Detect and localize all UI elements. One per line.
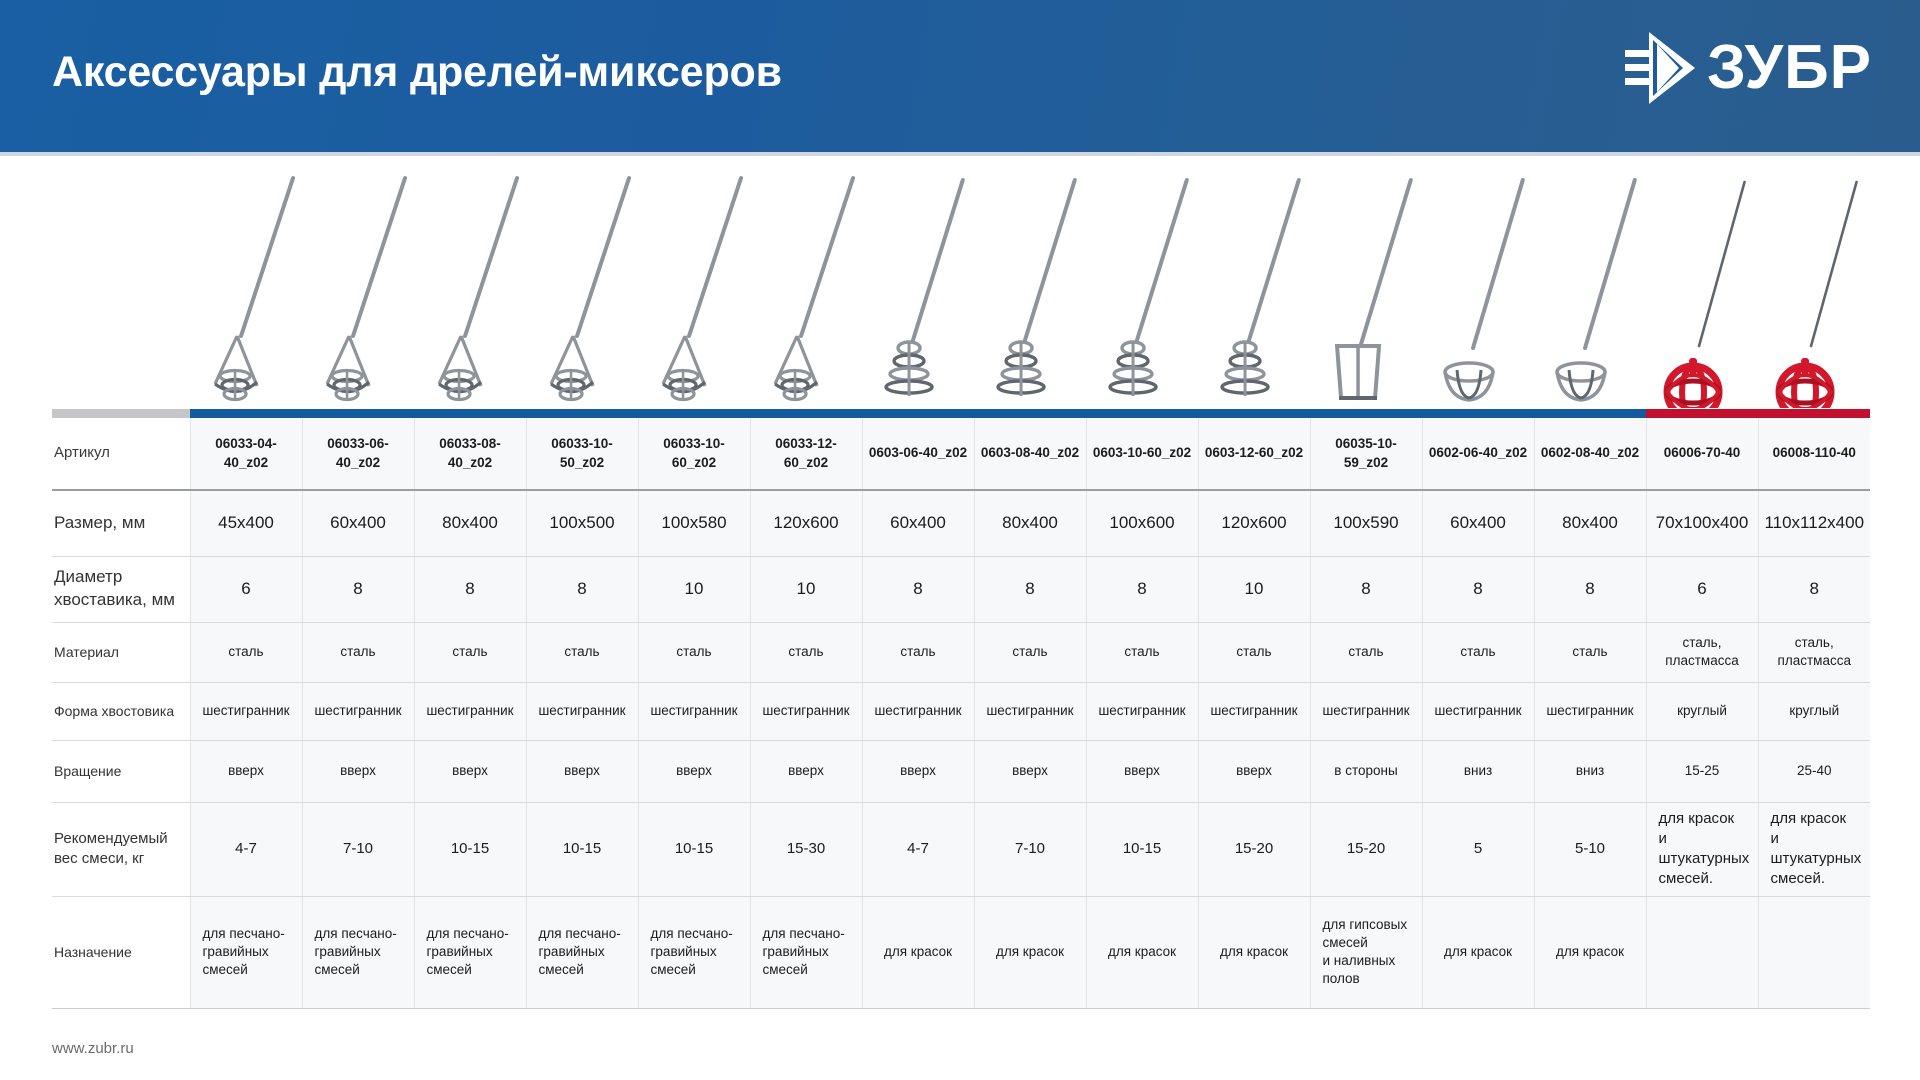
cell-purpose-14 bbox=[1758, 896, 1870, 1008]
cell-weight-13: для красоки штукатурныхсмесей. bbox=[1646, 802, 1758, 896]
cell-purpose-0: для песчано-гравийныхсмесей bbox=[190, 896, 302, 1008]
cell-shank_form-7: шестигранник bbox=[974, 682, 1086, 740]
product-image-5 bbox=[750, 168, 862, 408]
cell-size-6: 60х400 bbox=[862, 490, 974, 556]
cell-purpose-6: для красок bbox=[862, 896, 974, 1008]
cell-article-6: 0603-06-40_z02 bbox=[862, 418, 974, 490]
cell-purpose-2: для песчано-гравийныхсмесей bbox=[414, 896, 526, 1008]
accent-segment-steel bbox=[190, 409, 1646, 418]
cell-size-3: 100х500 bbox=[526, 490, 638, 556]
product-image-12 bbox=[1534, 168, 1646, 408]
cell-shank_diameter-11: 8 bbox=[1422, 556, 1534, 622]
cell-size-11: 60х400 bbox=[1422, 490, 1534, 556]
cell-purpose-4: для песчано-гравийныхсмесей bbox=[638, 896, 750, 1008]
cell-weight-14: для красоки штукатурныхсмесей. bbox=[1758, 802, 1870, 896]
cell-size-5: 120х600 bbox=[750, 490, 862, 556]
product-image-7 bbox=[974, 168, 1086, 408]
cell-purpose-9: для красок bbox=[1198, 896, 1310, 1008]
page-root: Аксессуары для дрелей-миксеров ЗУБР Арти… bbox=[0, 0, 1920, 1080]
cell-shank_form-6: шестигранник bbox=[862, 682, 974, 740]
cell-material-2: сталь bbox=[414, 622, 526, 682]
cell-shank_form-4: шестигранник bbox=[638, 682, 750, 740]
cell-rotation-4: вверх bbox=[638, 740, 750, 802]
table-row-article: Артикул06033-04-40_z0206033-06-40_z02060… bbox=[52, 418, 1870, 490]
row-label-rotation: Вращение bbox=[52, 740, 190, 802]
cell-purpose-11: для красок bbox=[1422, 896, 1534, 1008]
cell-shank_form-2: шестигранник bbox=[414, 682, 526, 740]
cell-shank_diameter-5: 10 bbox=[750, 556, 862, 622]
cell-weight-6: 4-7 bbox=[862, 802, 974, 896]
cell-shank_form-8: шестигранник bbox=[1086, 682, 1198, 740]
cell-shank_diameter-0: 6 bbox=[190, 556, 302, 622]
accent-segment-label bbox=[52, 409, 190, 418]
cell-article-10: 06035-10-59_z02 bbox=[1310, 418, 1422, 490]
cell-article-3: 06033-10-50_z02 bbox=[526, 418, 638, 490]
cell-rotation-0: вверх bbox=[190, 740, 302, 802]
page-title: Аксессуары для дрелей-миксеров bbox=[52, 48, 782, 97]
accent-segment-plastic bbox=[1646, 409, 1870, 418]
cell-material-7: сталь bbox=[974, 622, 1086, 682]
cell-shank_form-5: шестигранник bbox=[750, 682, 862, 740]
cell-material-10: сталь bbox=[1310, 622, 1422, 682]
product-image-2 bbox=[414, 168, 526, 408]
cell-article-13: 06006-70-40 bbox=[1646, 418, 1758, 490]
cell-rotation-8: вверх bbox=[1086, 740, 1198, 802]
row-label-shank_form: Форма хвостовика bbox=[52, 682, 190, 740]
category-accent-bar bbox=[52, 409, 1870, 418]
product-strip-spacer bbox=[52, 168, 190, 408]
cell-shank_form-1: шестигранник bbox=[302, 682, 414, 740]
cell-shank_diameter-2: 8 bbox=[414, 556, 526, 622]
cell-material-3: сталь bbox=[526, 622, 638, 682]
row-label-article: Артикул bbox=[52, 418, 190, 490]
cell-size-1: 60х400 bbox=[302, 490, 414, 556]
cell-size-13: 70х100х400 bbox=[1646, 490, 1758, 556]
cell-shank_form-14: круглый bbox=[1758, 682, 1870, 740]
cell-shank_diameter-4: 10 bbox=[638, 556, 750, 622]
specifications-table: Артикул06033-04-40_z0206033-06-40_z02060… bbox=[52, 418, 1870, 1009]
cell-shank_diameter-10: 8 bbox=[1310, 556, 1422, 622]
cell-weight-0: 4-7 bbox=[190, 802, 302, 896]
cell-rotation-6: вверх bbox=[862, 740, 974, 802]
cell-shank_form-9: шестигранник bbox=[1198, 682, 1310, 740]
cell-weight-5: 15-30 bbox=[750, 802, 862, 896]
cell-weight-1: 7-10 bbox=[302, 802, 414, 896]
table-row-material: Материалстальстальстальстальстальстальст… bbox=[52, 622, 1870, 682]
cell-article-9: 0603-12-60_z02 bbox=[1198, 418, 1310, 490]
cell-rotation-9: вверх bbox=[1198, 740, 1310, 802]
row-label-purpose: Назначение bbox=[52, 896, 190, 1008]
cell-rotation-1: вверх bbox=[302, 740, 414, 802]
product-image-9 bbox=[1198, 168, 1310, 408]
cell-shank_form-11: шестигранник bbox=[1422, 682, 1534, 740]
row-label-shank_diameter: Диаметрхвоставика, мм bbox=[52, 556, 190, 622]
cell-weight-10: 15-20 bbox=[1310, 802, 1422, 896]
cell-size-7: 80х400 bbox=[974, 490, 1086, 556]
table-row-purpose: Назначениедля песчано-гравийныхсмесейдля… bbox=[52, 896, 1870, 1008]
cell-shank_form-10: шестигранник bbox=[1310, 682, 1422, 740]
row-label-size: Размер, мм bbox=[52, 490, 190, 556]
cell-size-10: 100х590 bbox=[1310, 490, 1422, 556]
cell-article-11: 0602-06-40_z02 bbox=[1422, 418, 1534, 490]
product-image-4 bbox=[638, 168, 750, 408]
cell-rotation-12: вниз bbox=[1534, 740, 1646, 802]
cell-shank_diameter-8: 8 bbox=[1086, 556, 1198, 622]
cell-article-0: 06033-04-40_z02 bbox=[190, 418, 302, 490]
cell-purpose-12: для красок bbox=[1534, 896, 1646, 1008]
brand-name: ЗУБР bbox=[1707, 32, 1872, 104]
product-image-11 bbox=[1422, 168, 1534, 408]
cell-shank_diameter-14: 8 bbox=[1758, 556, 1870, 622]
cell-purpose-5: для песчано-гравийныхсмесей bbox=[750, 896, 862, 1008]
cell-weight-8: 10-15 bbox=[1086, 802, 1198, 896]
cell-shank_diameter-1: 8 bbox=[302, 556, 414, 622]
cell-rotation-13: 15-25 bbox=[1646, 740, 1758, 802]
cell-shank_diameter-7: 8 bbox=[974, 556, 1086, 622]
cell-material-4: сталь bbox=[638, 622, 750, 682]
cell-article-1: 06033-06-40_z02 bbox=[302, 418, 414, 490]
cell-article-7: 0603-08-40_z02 bbox=[974, 418, 1086, 490]
cell-shank_diameter-3: 8 bbox=[526, 556, 638, 622]
cell-weight-12: 5-10 bbox=[1534, 802, 1646, 896]
cell-rotation-10: в стороны bbox=[1310, 740, 1422, 802]
cell-purpose-3: для песчано-гравийныхсмесей bbox=[526, 896, 638, 1008]
product-image-strip bbox=[52, 168, 1870, 408]
product-image-10 bbox=[1310, 168, 1422, 408]
cell-shank_diameter-13: 6 bbox=[1646, 556, 1758, 622]
table-row-shank_form: Форма хвостовикашестигранникшестигранник… bbox=[52, 682, 1870, 740]
cell-purpose-13 bbox=[1646, 896, 1758, 1008]
cell-article-4: 06033-10-60_z02 bbox=[638, 418, 750, 490]
product-image-6 bbox=[862, 168, 974, 408]
cell-purpose-1: для песчано-гравийныхсмесей bbox=[302, 896, 414, 1008]
cell-weight-9: 15-20 bbox=[1198, 802, 1310, 896]
cell-shank_diameter-6: 8 bbox=[862, 556, 974, 622]
product-image-0 bbox=[190, 168, 302, 408]
cell-rotation-5: вверх bbox=[750, 740, 862, 802]
cell-material-0: сталь bbox=[190, 622, 302, 682]
cell-purpose-7: для красок bbox=[974, 896, 1086, 1008]
cell-rotation-14: 25-40 bbox=[1758, 740, 1870, 802]
cell-shank_form-0: шестигранник bbox=[190, 682, 302, 740]
cell-material-6: сталь bbox=[862, 622, 974, 682]
cell-shank_diameter-12: 8 bbox=[1534, 556, 1646, 622]
cell-article-2: 06033-08-40_z02 bbox=[414, 418, 526, 490]
cell-material-14: сталь,пластмасса bbox=[1758, 622, 1870, 682]
cell-size-9: 120х600 bbox=[1198, 490, 1310, 556]
cell-material-12: сталь bbox=[1534, 622, 1646, 682]
cell-material-11: сталь bbox=[1422, 622, 1534, 682]
cell-article-14: 06008-110-40 bbox=[1758, 418, 1870, 490]
cell-weight-3: 10-15 bbox=[526, 802, 638, 896]
cell-shank_diameter-9: 10 bbox=[1198, 556, 1310, 622]
cell-weight-2: 10-15 bbox=[414, 802, 526, 896]
cell-shank_form-13: круглый bbox=[1646, 682, 1758, 740]
cell-size-8: 100х600 bbox=[1086, 490, 1198, 556]
row-label-material: Материал bbox=[52, 622, 190, 682]
cell-size-12: 80х400 bbox=[1534, 490, 1646, 556]
cell-material-9: сталь bbox=[1198, 622, 1310, 682]
cell-size-2: 80х400 bbox=[414, 490, 526, 556]
table-row-size: Размер, мм45х40060х40080х400100х500100х5… bbox=[52, 490, 1870, 556]
cell-size-4: 100х580 bbox=[638, 490, 750, 556]
cell-article-8: 0603-10-60_z02 bbox=[1086, 418, 1198, 490]
cell-material-13: сталь,пластмасса bbox=[1646, 622, 1758, 682]
header-divider bbox=[0, 152, 1920, 156]
cell-rotation-2: вверх bbox=[414, 740, 526, 802]
row-label-weight: Рекомендуемыйвес смеси, кг bbox=[52, 802, 190, 896]
cell-material-1: сталь bbox=[302, 622, 414, 682]
cell-weight-11: 5 bbox=[1422, 802, 1534, 896]
footer-url[interactable]: www.zubr.ru bbox=[52, 1040, 134, 1057]
product-image-13 bbox=[1646, 168, 1758, 408]
page-header: Аксессуары для дрелей-миксеров ЗУБР bbox=[0, 0, 1920, 155]
specifications-table-wrap: Артикул06033-04-40_z0206033-06-40_z02060… bbox=[52, 418, 1870, 1009]
cell-size-14: 110х112х400 bbox=[1758, 490, 1870, 556]
product-image-3 bbox=[526, 168, 638, 408]
cell-purpose-10: для гипсовыхсмесейи наливныхполов bbox=[1310, 896, 1422, 1008]
product-image-14 bbox=[1758, 168, 1870, 408]
table-row-rotation: Вращениевверхвверхвверхвверхвверхвверхвв… bbox=[52, 740, 1870, 802]
cell-shank_form-12: шестигранник bbox=[1534, 682, 1646, 740]
cell-shank_form-3: шестигранник bbox=[526, 682, 638, 740]
brand-logo: ЗУБР bbox=[1623, 30, 1872, 106]
table-row-shank_diameter: Диаметрхвоставика, мм688810108881088868 bbox=[52, 556, 1870, 622]
cell-weight-4: 10-15 bbox=[638, 802, 750, 896]
cell-rotation-7: вверх bbox=[974, 740, 1086, 802]
cell-weight-7: 7-10 bbox=[974, 802, 1086, 896]
cell-article-5: 06033-12-60_z02 bbox=[750, 418, 862, 490]
product-image-1 bbox=[302, 168, 414, 408]
zubr-arrow-icon bbox=[1623, 30, 1697, 106]
cell-size-0: 45х400 bbox=[190, 490, 302, 556]
cell-purpose-8: для красок bbox=[1086, 896, 1198, 1008]
table-row-weight: Рекомендуемыйвес смеси, кг4-77-1010-1510… bbox=[52, 802, 1870, 896]
cell-material-5: сталь bbox=[750, 622, 862, 682]
cell-rotation-11: вниз bbox=[1422, 740, 1534, 802]
cell-article-12: 0602-08-40_z02 bbox=[1534, 418, 1646, 490]
cell-material-8: сталь bbox=[1086, 622, 1198, 682]
cell-rotation-3: вверх bbox=[526, 740, 638, 802]
product-image-8 bbox=[1086, 168, 1198, 408]
